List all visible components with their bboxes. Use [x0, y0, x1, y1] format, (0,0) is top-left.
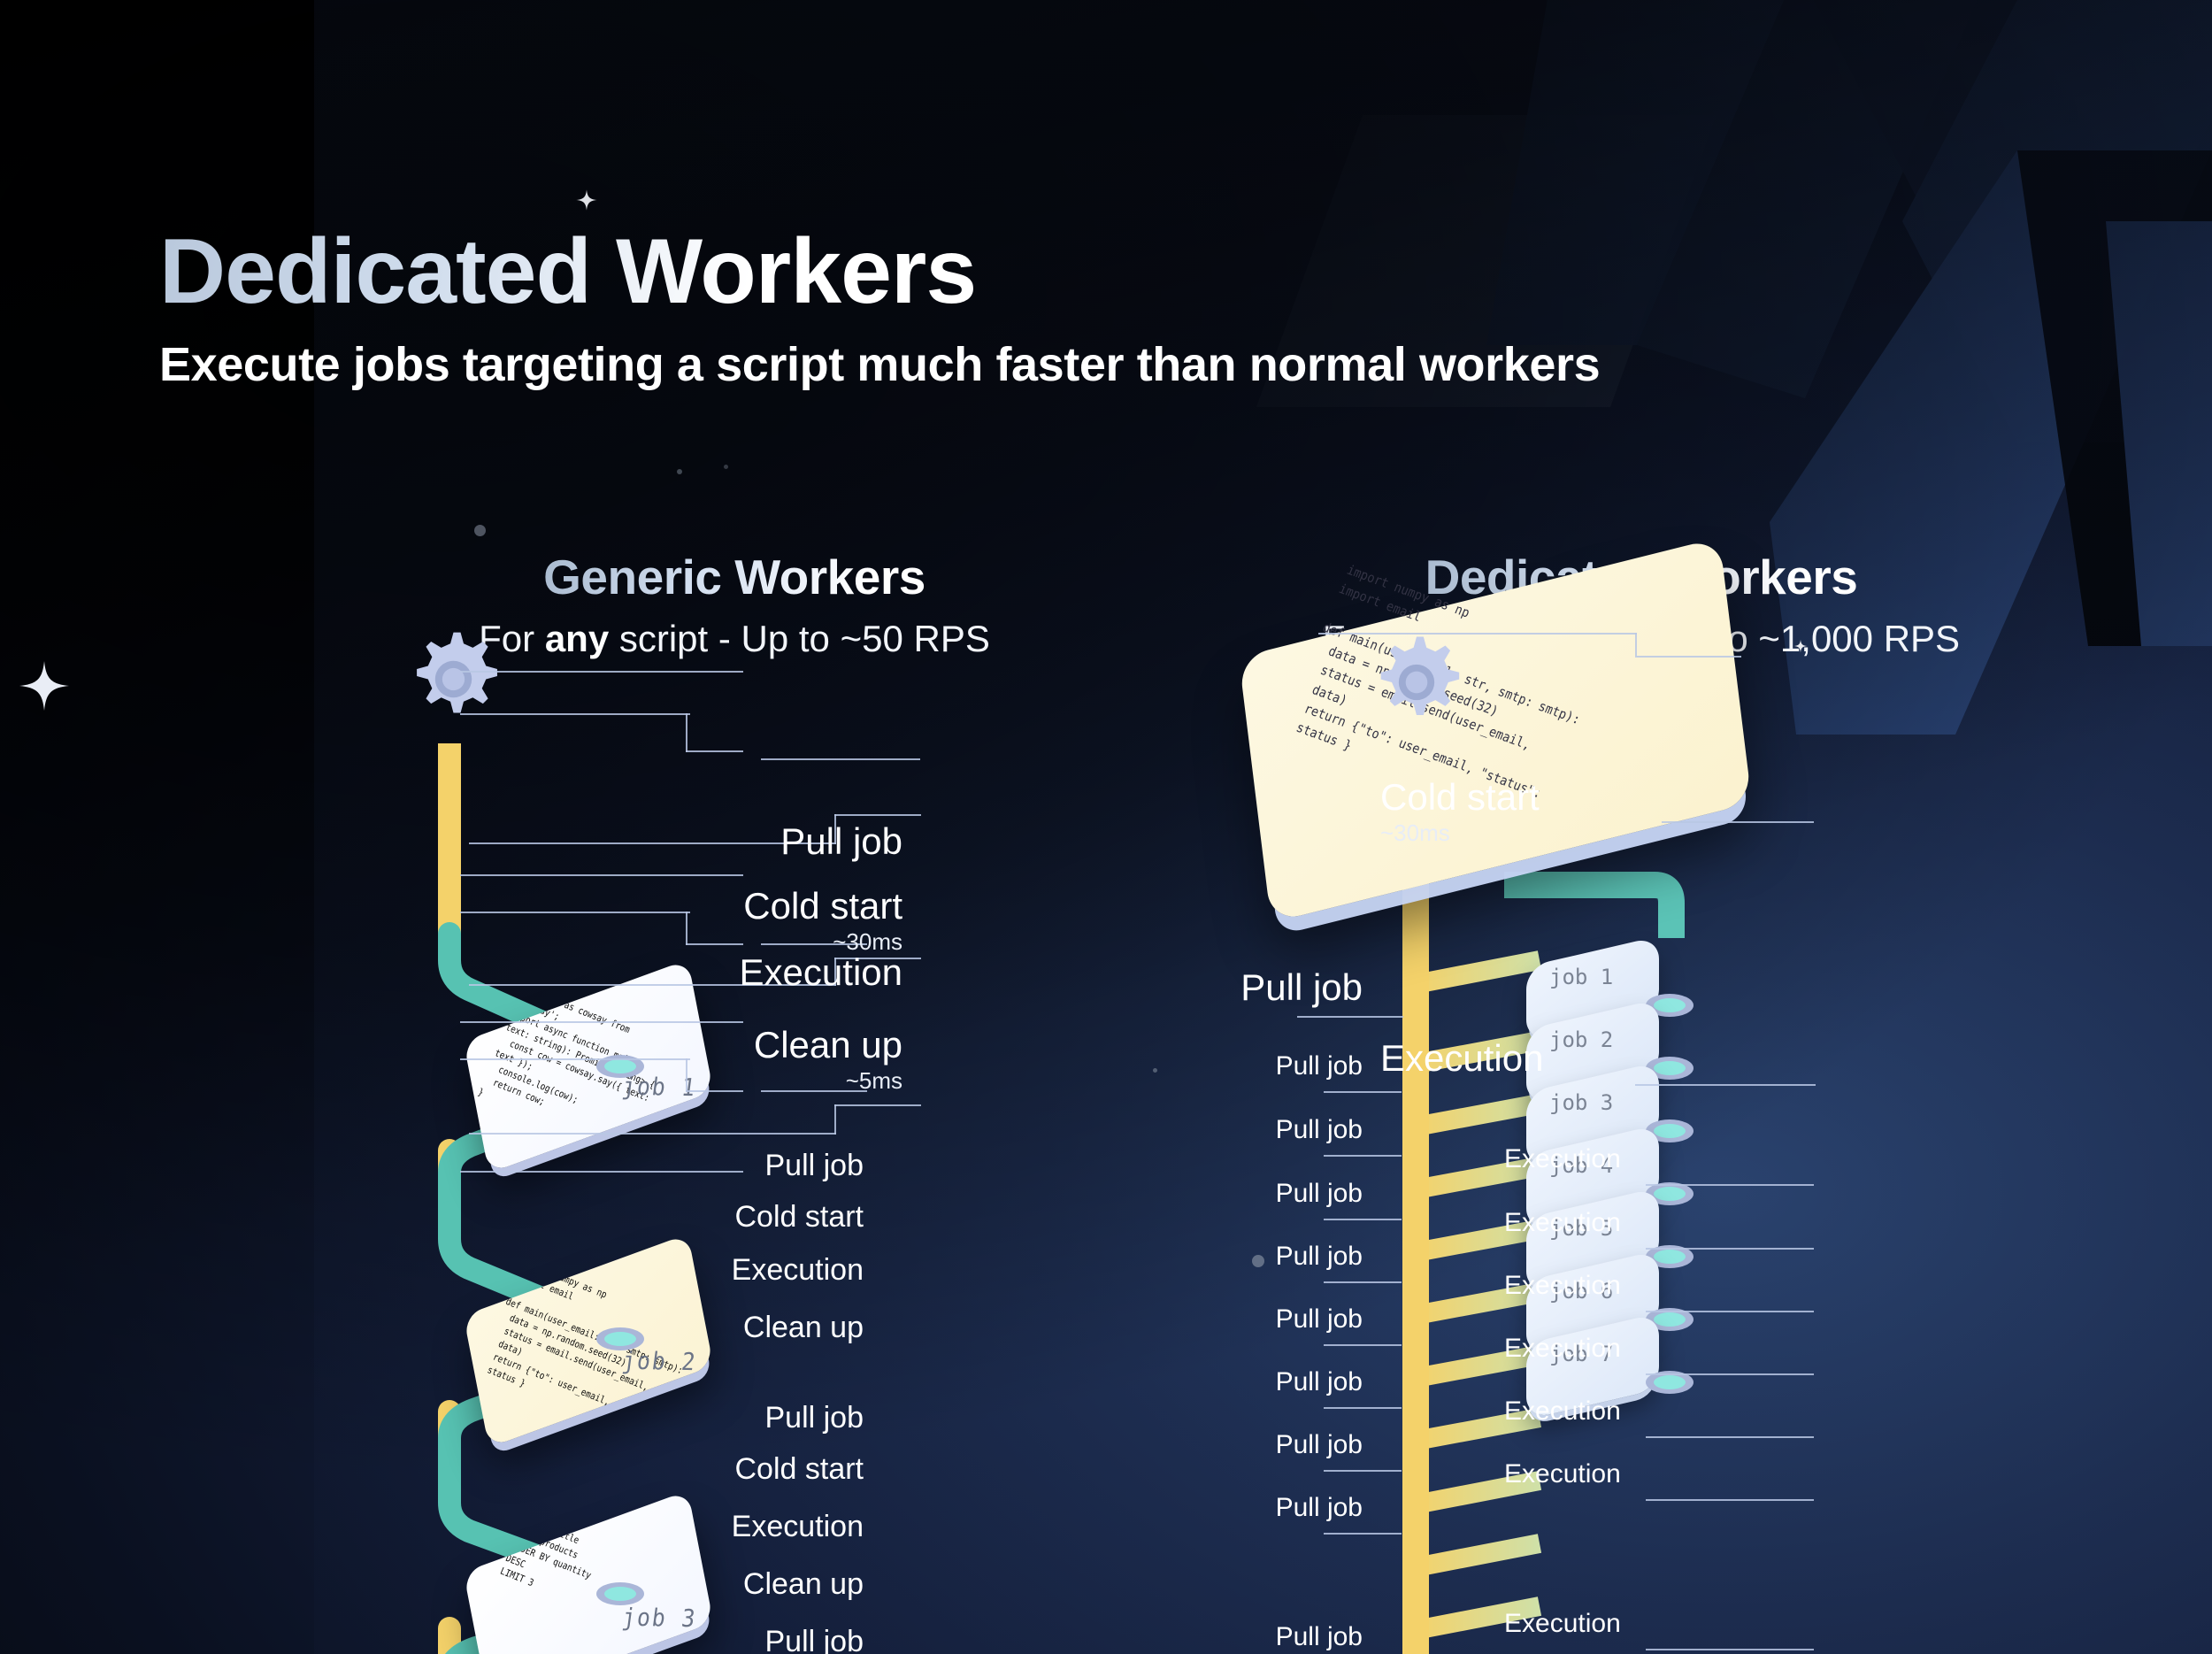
page-title: Dedicated Workers	[159, 226, 976, 318]
step-label-pull-job: Pull job	[531, 823, 902, 860]
sparkle-star-icon	[18, 659, 71, 712]
step-label-execution: Execution	[1380, 1040, 1876, 1077]
column-title-generic: Generic Workers	[543, 549, 926, 605]
step-label-pull-job: Pull job	[1106, 1053, 1363, 1080]
step-label-execution: Execution	[1504, 1611, 1858, 1637]
step-label-execution: Execution	[531, 1255, 864, 1285]
mini-job-label: job 3	[1549, 1092, 1613, 1114]
step-label-cold-start: Cold start ~30ms	[1380, 779, 1876, 844]
step-label-pull-job: Pull job	[531, 1403, 864, 1433]
dedicated-script-card: import numpy as np import email def main…	[1239, 537, 1752, 922]
step-label-clean-up: Clean up	[531, 1312, 864, 1342]
column-header-generic: Generic Workers For any script - Up to ~…	[239, 549, 1230, 660]
step-label-pull-job: Pull job	[1106, 1624, 1363, 1650]
cold-start-rule	[1662, 821, 1814, 823]
step-label-execution: Execution	[1504, 1398, 1858, 1425]
step-label-pull-job: Pull job	[1106, 1181, 1363, 1207]
step-label-pull-job: Pull job	[531, 1150, 864, 1181]
gear-icon	[1367, 633, 1466, 732]
subtitle-suffix: script - Up to ~50 RPS	[609, 618, 990, 659]
column-subtitle-generic: For any script - Up to ~50 RPS	[239, 618, 1230, 660]
step-label-clean-up: Clean up ~5ms	[531, 1027, 902, 1092]
step-label-execution: Execution	[1504, 1146, 1858, 1173]
step-label-execution: Execution	[1504, 1335, 1858, 1362]
step-label-pull-job: Pull job	[1106, 969, 1363, 1006]
job-card-label: job 2	[620, 1348, 698, 1377]
step-label-execution: Execution	[1504, 1461, 1858, 1488]
step-label-execution: Execution	[531, 1512, 864, 1542]
step-label-execution: Execution	[531, 954, 902, 991]
step-label-pull-job: Pull job	[531, 1627, 864, 1654]
step-label-execution: Execution	[1504, 1210, 1858, 1236]
dedicated-workers-diagram: import numpy as np import email def main…	[1274, 726, 2088, 1654]
step-label-execution: Execution	[1504, 1273, 1858, 1299]
page-subtitle: Execute jobs targeting a script much fas…	[159, 337, 2017, 392]
mini-job-label: job 1	[1549, 966, 1613, 989]
step-label-cold-start: Cold start	[531, 1454, 864, 1484]
step-label-cold-start: Cold start	[531, 1202, 864, 1232]
step-label-cold-start: Cold start ~30ms	[531, 888, 902, 953]
step-label-pull-job: Pull job	[1106, 1243, 1363, 1270]
step-label-pull-job: Pull job	[1106, 1369, 1363, 1396]
step-label-pull-job: Pull job	[1106, 1495, 1363, 1521]
step-label-pull-job: Pull job	[1106, 1117, 1363, 1143]
step-label-pull-job: Pull job	[1106, 1432, 1363, 1458]
page-header: Dedicated Workers Execute jobs targeting…	[159, 226, 2017, 392]
step-label-clean-up: Clean up	[531, 1569, 864, 1599]
step-label-pull-job: Pull job	[1106, 1306, 1363, 1333]
subtitle-emphasis: any	[545, 618, 609, 659]
